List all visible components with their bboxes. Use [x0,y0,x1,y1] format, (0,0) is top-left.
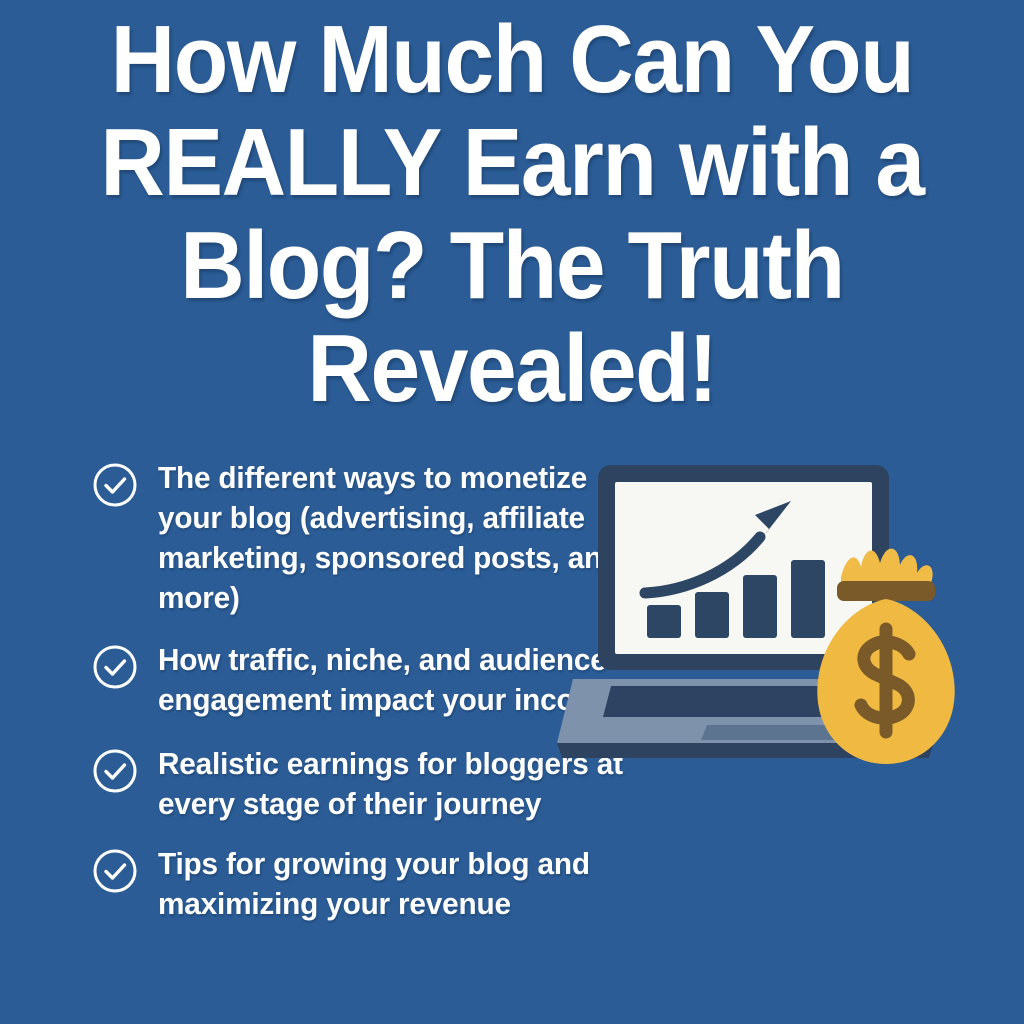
bar-4 [791,560,825,638]
check-circle-icon [92,462,138,508]
title-line-4: Revealed! [86,317,938,420]
check-circle-icon [92,644,138,690]
infographic-poster: How Much Can You REALLY Earn with a Blog… [0,0,1024,1024]
list-item: Tips for growing your blog and maximizin… [92,844,672,924]
check-circle-icon [92,848,138,894]
list-item-label: Tips for growing your blog and maximizin… [158,844,651,924]
title-line-2: REALLY Earn with a [86,111,938,214]
laptop-money-illustration [555,455,1024,815]
title-line-1: How Much Can You [86,8,938,111]
bar-2 [695,592,729,638]
check-circle-icon [92,748,138,794]
bar-1 [647,605,681,638]
bar-3 [743,575,777,638]
title-line-3: Blog? The Truth [86,214,938,317]
page-title: How Much Can You REALLY Earn with a Blog… [54,8,970,420]
